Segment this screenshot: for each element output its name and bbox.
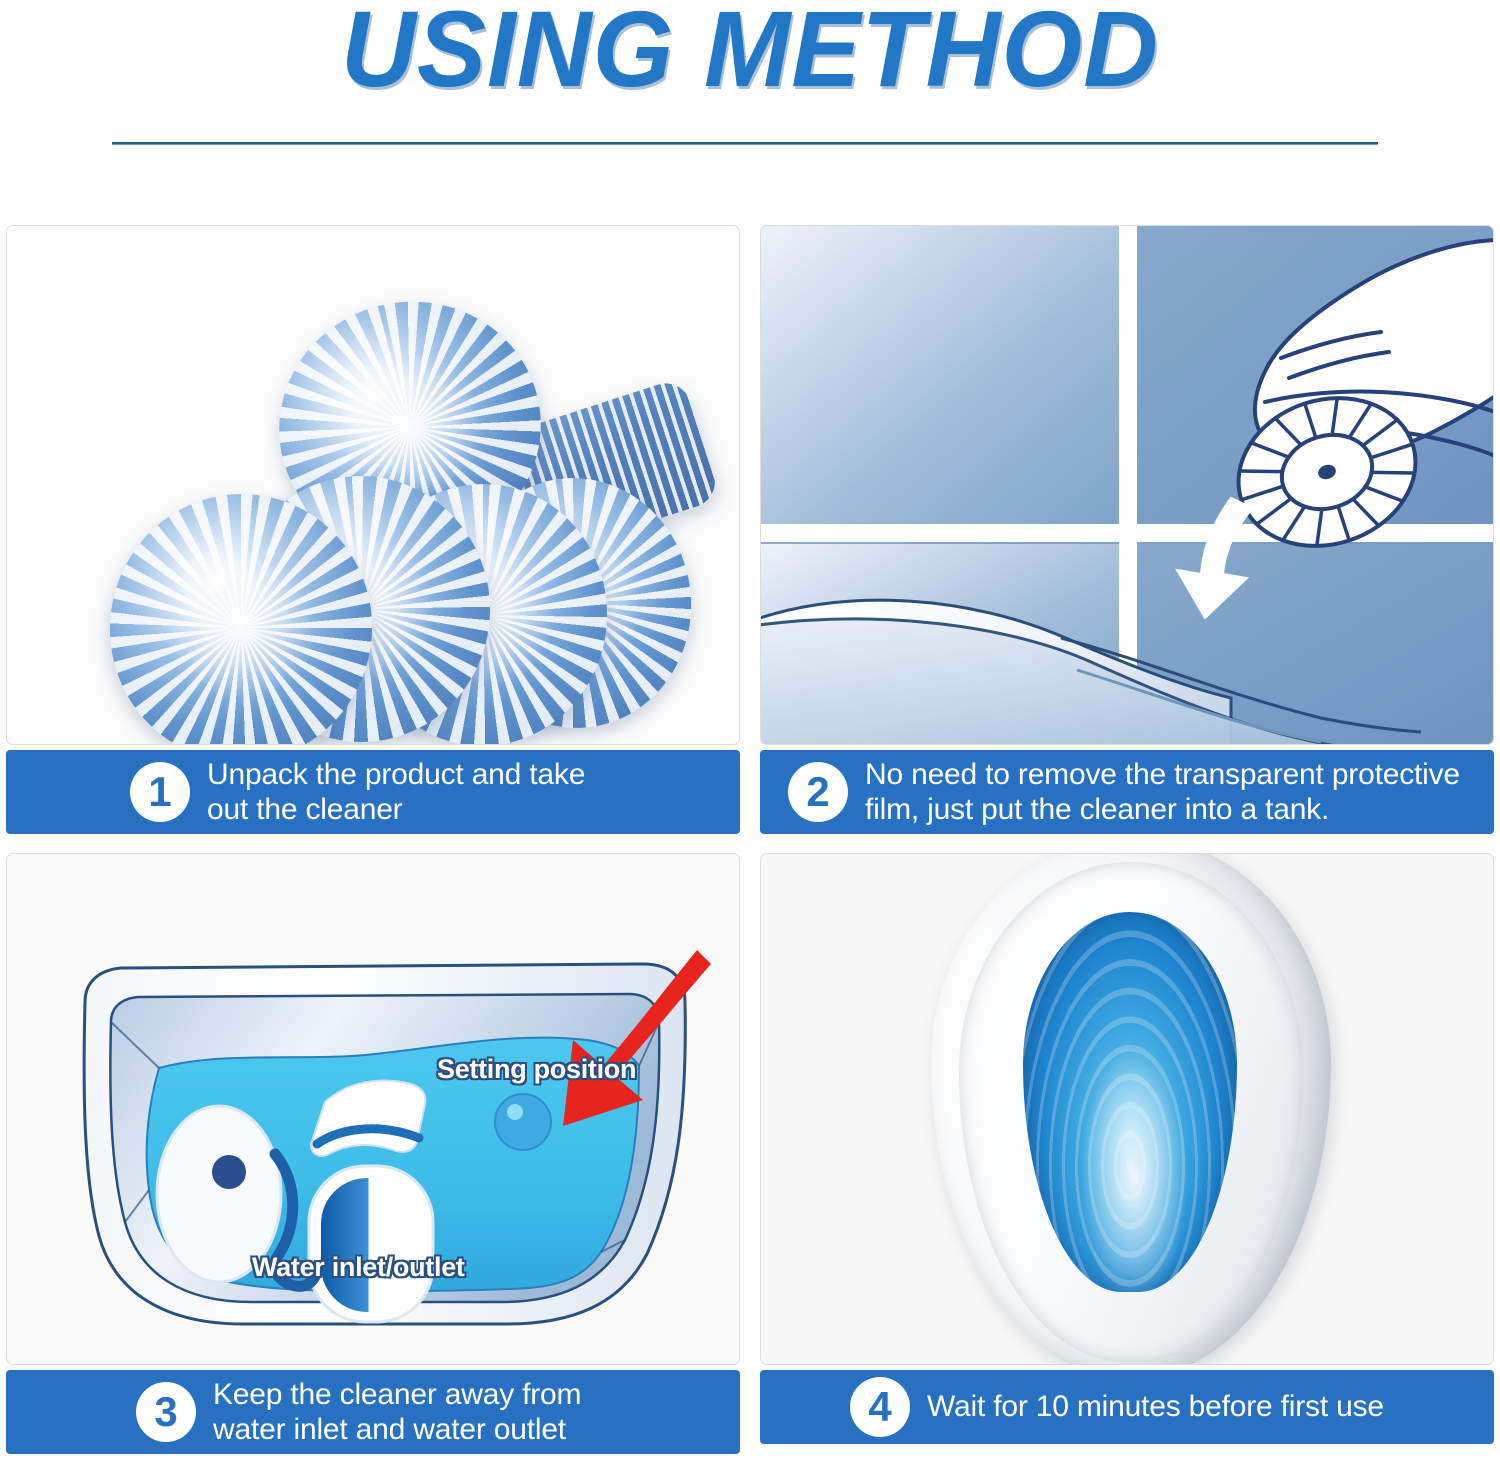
diagram-label-water-inlet-outlet: Water inlet/outlet — [252, 1252, 465, 1283]
step-number-badge: 2 — [788, 762, 848, 822]
step-3-caption-text: Keep the cleaner away from water inlet a… — [213, 1377, 581, 1447]
step-2-caption-text: No need to remove the transparent protec… — [865, 757, 1460, 827]
step-4-caption-text: Wait for 10 minutes before first use — [927, 1389, 1384, 1424]
step-3-media-frame: Setting position Water inlet/outlet — [6, 853, 740, 1365]
photo-toilet-bowl-blue-water — [761, 854, 1493, 1364]
toilet-bowl-blue-water — [1023, 912, 1237, 1292]
step-1-media-frame — [6, 225, 740, 745]
photo-cleaner-tablets — [7, 226, 739, 744]
step-card-3: Setting position Water inlet/outlet 3 Ke… — [6, 853, 740, 1454]
flush-valve-icon — [309, 1166, 433, 1322]
steps-grid: 1 Unpack the product and take out the cl… — [0, 212, 1500, 1466]
step-card-2: 2 No need to remove the transparent prot… — [760, 225, 1494, 834]
tank-hand-illustration-svg — [761, 226, 1494, 745]
step-1-caption-text: Unpack the product and take out the clea… — [207, 757, 585, 827]
diagram-label-setting-position: Setting position — [437, 1054, 636, 1085]
step-number-badge: 1 — [130, 762, 190, 822]
step-2-media-frame — [760, 225, 1494, 745]
step-number-badge: 3 — [136, 1382, 196, 1442]
setting-position-marker — [495, 1094, 551, 1150]
step-2-caption-bar: 2 No need to remove the transparent prot… — [760, 750, 1494, 834]
title-divider-rule — [112, 142, 1378, 145]
step-4-media-frame — [760, 853, 1494, 1365]
step-1-caption-bar: 1 Unpack the product and take out the cl… — [6, 750, 740, 834]
step-4-caption-bar: 4 Wait for 10 minutes before first use — [760, 1370, 1494, 1444]
diagram-tank-top-view: Setting position Water inlet/outlet — [7, 854, 739, 1364]
step-number-badge: 4 — [850, 1377, 910, 1437]
illustration-hand-dropping-cleaner — [761, 226, 1493, 744]
step-card-1: 1 Unpack the product and take out the cl… — [6, 225, 740, 834]
page-title: USING METHOD — [30, 0, 1470, 111]
tank-top-view-svg — [7, 854, 740, 1365]
step-card-4: 4 Wait for 10 minutes before first use — [760, 853, 1494, 1444]
page-header: USING METHOD — [0, 0, 1500, 200]
step-3-caption-bar: 3 Keep the cleaner away from water inlet… — [6, 1370, 740, 1454]
